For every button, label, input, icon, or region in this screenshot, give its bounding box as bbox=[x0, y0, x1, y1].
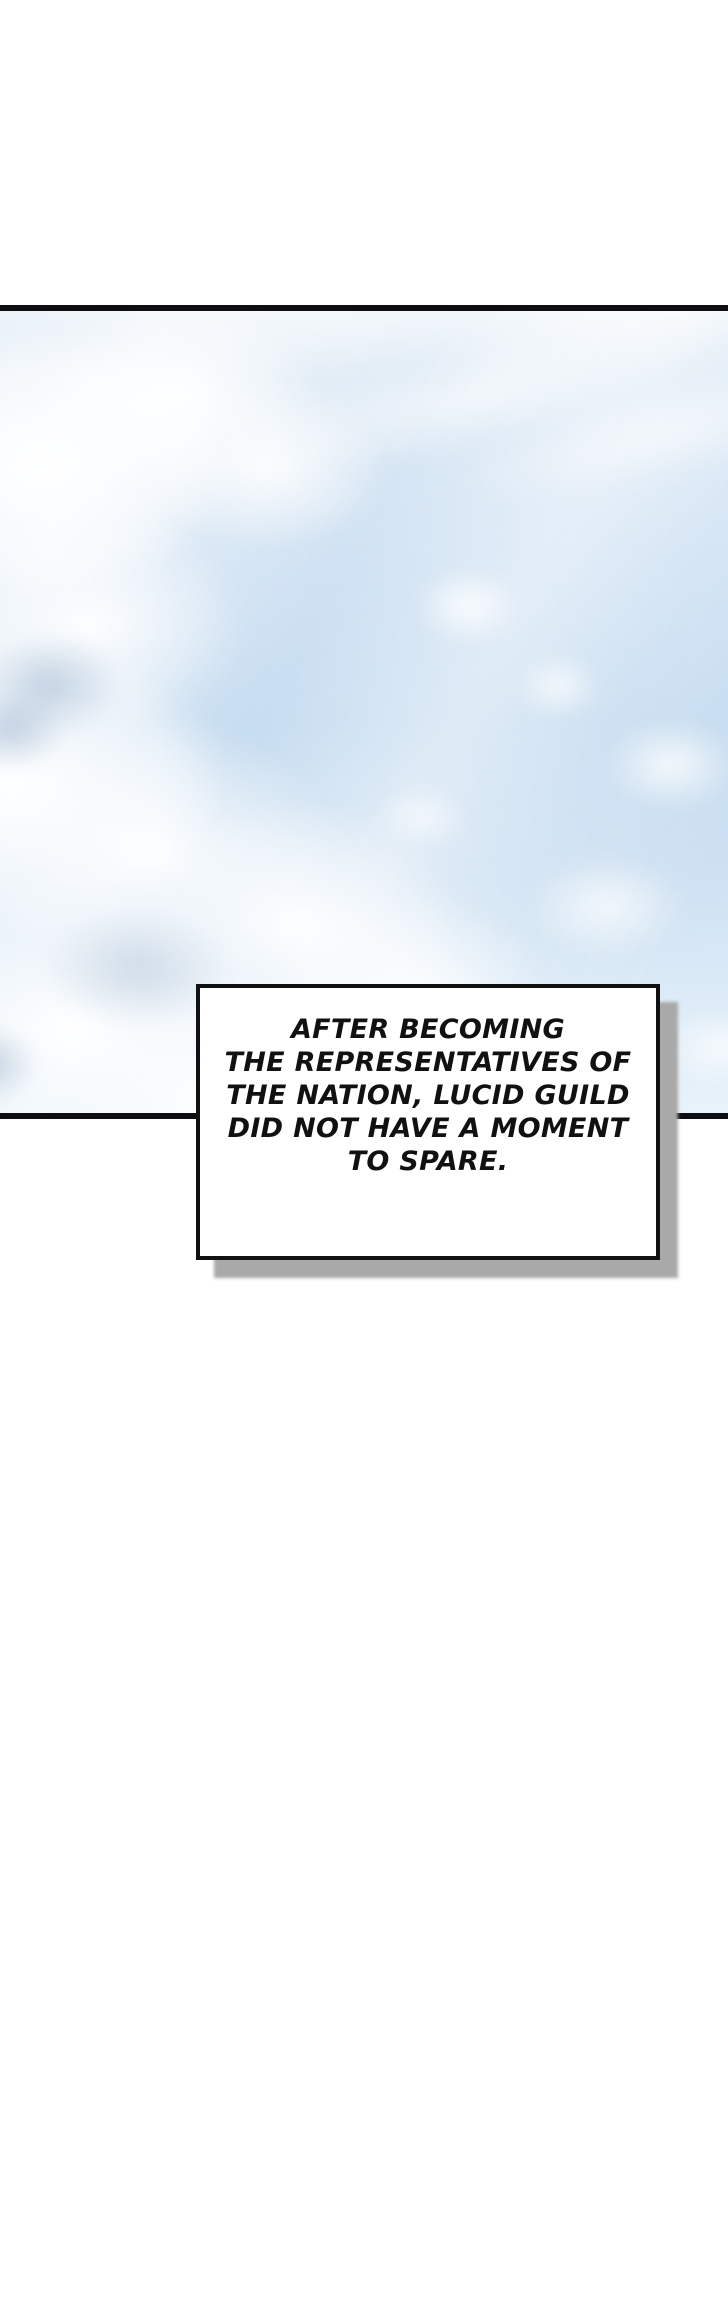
caption-text: AFTER BECOMING THE REPRESENTATIVES OF TH… bbox=[200, 988, 656, 1179]
comic-strip: AFTER BECOMING THE REPRESENTATIVES OF TH… bbox=[0, 0, 728, 2311]
gutter-top bbox=[0, 0, 728, 305]
gutter-bottom bbox=[0, 1119, 728, 2311]
caption-box: AFTER BECOMING THE REPRESENTATIVES OF TH… bbox=[196, 984, 660, 1260]
